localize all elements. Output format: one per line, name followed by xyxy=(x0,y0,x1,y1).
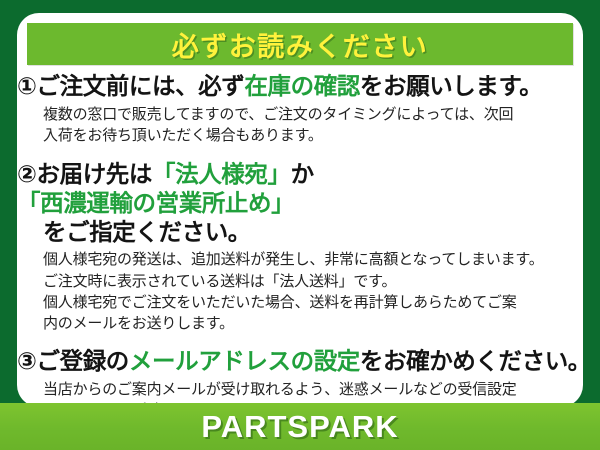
item-3-sub-line-1: 当店からのご案内メールが受け取れるよう、迷惑メールなどの受信設定 xyxy=(43,379,587,400)
item-3-head-post: をお確かめください。 xyxy=(360,348,591,374)
item-3-head-pre: ご登録の xyxy=(37,348,129,374)
notice-item-1: ①ご注文前には、必ず在庫の確認をお願いします。 複数の窓口で販売してますので、ご… xyxy=(17,72,587,146)
item-1-head-highlight: 在庫の確認 xyxy=(244,73,360,99)
item-2-sub-line-2: ご注文時に表示されている送料は「法人送料」です。 xyxy=(43,271,587,292)
page-title: 必ずお読みください xyxy=(172,25,429,64)
notice-banner: 必ずお読みください ①ご注文前には、必ず在庫の確認をお願いします。 複数の窓口で… xyxy=(0,0,600,450)
item-2-head-line-2: をご指定ください。 xyxy=(43,218,587,247)
notice-item-3-heading: ③ご登録のメールアドレスの設定をお確かめください。 xyxy=(17,347,587,376)
notice-content: ①ご注文前には、必ず在庫の確認をお願いします。 複数の窓口で販売してますので、ご… xyxy=(17,72,587,424)
notice-item-2: ②お届け先は「法人様宛」か「西濃運輸の営業所止め」をご指定ください。 個人様宅宛… xyxy=(17,160,587,334)
item-marker-3: ③ xyxy=(17,347,37,376)
notice-item-2-body: 個人様宅宛の発送は、追加送料が発生し、非常に高額となってしまいます。 ご注文時に… xyxy=(43,249,587,334)
item-2-head-mid: か xyxy=(291,161,314,187)
item-2-sub-line-1: 個人様宅宛の発送は、追加送料が発生し、非常に高額となってしまいます。 xyxy=(43,249,587,270)
item-2-head-pre: お届け先は xyxy=(37,161,153,187)
item-3-head-highlight: メールアドレスの設定 xyxy=(129,348,360,374)
brand-logo-partspark: PARTSPARK xyxy=(201,409,398,445)
item-2-sub-line-4: 内のメールをお送りします。 xyxy=(43,313,587,334)
item-1-sub-line-1: 複数の窓口で販売してますので、ご注文のタイミングによっては、次回 xyxy=(43,104,587,125)
item-2-head-highlight-2: 「西濃運輸の営業所止め」 xyxy=(17,190,294,216)
item-2-sub-line-3: 個人様宅宛でご注文をいただいた場合、送料を再計算しあらためてご案 xyxy=(43,292,587,313)
notice-item-1-body: 複数の窓口で販売してますので、ご注文のタイミングによっては、次回 入荷をお待ち頂… xyxy=(43,104,587,147)
footer-bar: PARTSPARK xyxy=(0,403,600,450)
item-marker-1: ① xyxy=(17,72,37,101)
item-marker-2: ② xyxy=(17,160,37,189)
item-2-head-highlight: 「法人様宛」 xyxy=(152,161,291,187)
item-1-sub-line-2: 入荷をお待ち頂いただく場合もあります。 xyxy=(43,125,587,146)
notice-item-1-heading: ①ご注文前には、必ず在庫の確認をお願いします。 xyxy=(17,72,587,101)
item-1-head-pre: ご注文前には、必ず xyxy=(37,73,245,99)
item-1-head-post: をお願いします。 xyxy=(360,73,542,99)
notice-title-bar: 必ずお読みください xyxy=(27,23,573,65)
notice-item-2-heading: ②お届け先は「法人様宛」か「西濃運輸の営業所止め」をご指定ください。 xyxy=(17,160,587,246)
